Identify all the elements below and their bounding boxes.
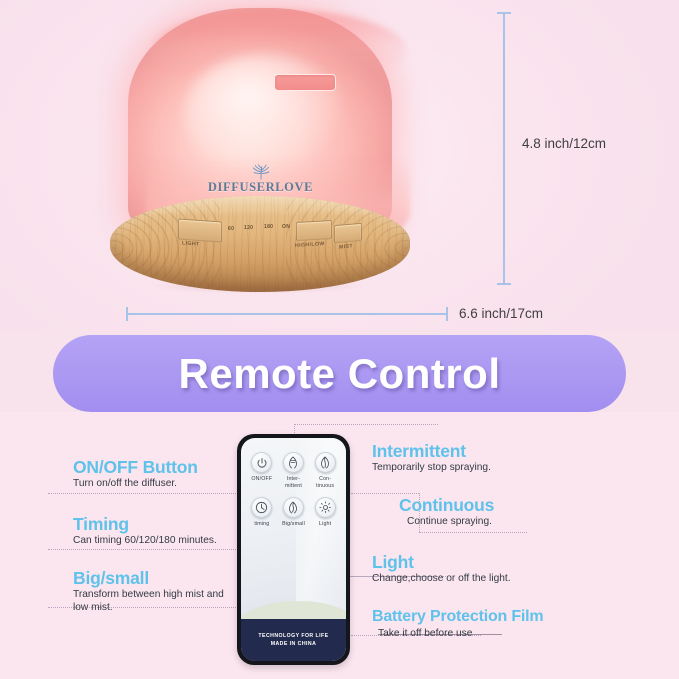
- connector-timing-h: [48, 549, 238, 550]
- product-photo-panel: LIGHT HIGH/LOW MIST 60 120 180 ON: [0, 0, 679, 330]
- callout-timing: Timing Can timing 60/120/180 minutes.: [73, 515, 217, 548]
- mist-waves-icon: [283, 497, 304, 518]
- height-cap-bottom: [497, 283, 511, 285]
- base-top-highlight: [120, 196, 400, 216]
- remote-keypad: ON/OFF Inter-mittent: [241, 452, 346, 536]
- height-cap-top: [497, 12, 511, 14]
- remote-key-intermittent[interactable]: Inter-mittent: [278, 452, 308, 489]
- remote-key-continuous[interactable]: Con-tinuous: [310, 452, 340, 489]
- remote-footer: TECHNOLOGY FOR LIFE MADE IN CHINA: [241, 619, 346, 661]
- callout-continuous: Continuous Continue spraying.: [399, 496, 494, 529]
- callout-light-title: Light: [372, 553, 511, 571]
- mist-vent-slot: [274, 74, 336, 91]
- banner-title: Remote Control: [179, 350, 501, 398]
- callout-continuous-title: Continuous: [399, 496, 494, 514]
- remote-key-timing[interactable]: timing: [247, 497, 277, 528]
- callout-continuous-desc: Continue spraying.: [407, 516, 494, 529]
- remote-key-row-2: timing Big/small: [241, 497, 346, 528]
- base-tick-180: 180: [264, 224, 273, 230]
- height-dimension-label: 4.8 inch/12cm: [522, 136, 606, 151]
- callout-bigsmall-title: Big/small: [73, 569, 224, 587]
- callout-bigsmall-desc: Transform between high mist and low mist…: [73, 589, 224, 615]
- callout-light: Light Change,choose or off the light.: [372, 553, 511, 586]
- infographic-root: LIGHT HIGH/LOW MIST 60 120 180 ON: [0, 0, 679, 679]
- base-tick-60: 60: [228, 226, 234, 232]
- callout-intermittent-title: Intermittent: [372, 442, 491, 460]
- power-icon: [251, 452, 272, 473]
- light-button-slot[interactable]: [178, 218, 222, 242]
- callout-light-desc: Change,choose or off the light.: [372, 573, 511, 586]
- width-dimension-line: [126, 313, 448, 315]
- base-tick-120: 120: [244, 225, 253, 231]
- connector-continuous-h1: [351, 493, 419, 494]
- brand-name: DIFFUSERLOVE: [208, 180, 313, 194]
- connector-intermittent-h: [294, 424, 438, 425]
- remote-footer-line2: MADE IN CHINA: [271, 641, 317, 647]
- width-cap-right: [446, 307, 448, 321]
- callout-battery-title: Battery Protection Film: [372, 609, 543, 626]
- remote-key-light-label: Light: [310, 521, 340, 528]
- base-tick-on: ON: [282, 224, 290, 230]
- callout-battery: Battery Protection Film Take it off befo…: [372, 609, 543, 641]
- intermittent-icon: [283, 452, 304, 473]
- base-light-label: LIGHT: [182, 240, 200, 247]
- width-dimension-label: 6.6 inch/17cm: [459, 306, 543, 321]
- continuous-icon: [315, 452, 336, 473]
- remote-key-bigsmall-label: Big/small: [278, 521, 308, 528]
- callout-bigsmall: Big/small Transform between high mist an…: [73, 569, 224, 615]
- remote-footer-line1: TECHNOLOGY FOR LIFE: [258, 633, 328, 639]
- remote-control-banner: Remote Control: [53, 335, 626, 412]
- clock-icon: [251, 497, 272, 518]
- diffuser-product-image: LIGHT HIGH/LOW MIST 60 120 180 ON: [110, 8, 410, 298]
- sun-icon: [315, 497, 336, 518]
- remote-key-onoff[interactable]: ON/OFF: [247, 452, 277, 489]
- callout-battery-desc: Take it off before use: [378, 628, 543, 641]
- dome-highlight: [184, 54, 344, 174]
- callout-onoff: ON/OFF Button Turn on/off the diffuser.: [73, 458, 198, 491]
- leaf-icon: [250, 164, 272, 180]
- callout-timing-title: Timing: [73, 515, 217, 533]
- height-dimension-line: [503, 12, 505, 285]
- callout-intermittent: Intermittent Temporarily stop spraying.: [372, 442, 491, 475]
- remote-control-device[interactable]: ON/OFF Inter-mittent: [237, 434, 350, 665]
- connector-onoff-h: [48, 493, 238, 494]
- callout-onoff-desc: Turn on/off the diffuser.: [73, 478, 198, 491]
- highlow-button-slot[interactable]: [296, 220, 332, 241]
- remote-key-intermittent-label: Inter-mittent: [278, 476, 308, 489]
- wooden-base: LIGHT HIGH/LOW MIST 60 120 180 ON: [110, 196, 410, 292]
- remote-key-light[interactable]: Light: [310, 497, 340, 528]
- callout-timing-desc: Can timing 60/120/180 minutes.: [73, 535, 217, 548]
- remote-key-bigsmall[interactable]: Big/small: [278, 497, 308, 528]
- connector-continuous-h2: [419, 532, 527, 533]
- callout-intermittent-desc: Temporarily stop spraying.: [372, 462, 491, 475]
- remote-key-onoff-label: ON/OFF: [247, 476, 277, 483]
- remote-faceplate: ON/OFF Inter-mittent: [241, 438, 346, 661]
- mist-button-slot[interactable]: [334, 223, 362, 243]
- callout-onoff-title: ON/OFF Button: [73, 458, 198, 476]
- brand-logo: DIFFUSERLOVE: [188, 164, 333, 196]
- width-cap-left: [126, 307, 128, 321]
- remote-key-continuous-label: Con-tinuous: [310, 476, 340, 489]
- callout-panel: ON/OFF Inter-mittent: [0, 412, 679, 679]
- remote-key-timing-label: timing: [247, 521, 277, 528]
- remote-key-row-1: ON/OFF Inter-mittent: [241, 452, 346, 489]
